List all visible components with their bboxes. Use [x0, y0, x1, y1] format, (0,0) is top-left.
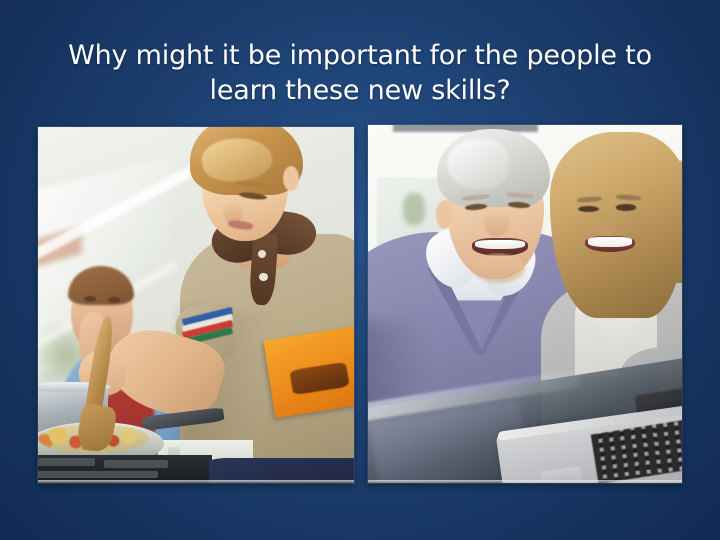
hob-grate-2 — [104, 460, 167, 468]
background-window-foliage — [403, 193, 425, 225]
kitchen-photo-bottom-edge — [38, 480, 354, 483]
slide-title-line-2: learn these new skills? — [44, 73, 676, 108]
background-ceiling-beam — [393, 125, 537, 132]
woman-eye-left — [578, 206, 598, 212]
older-man-chin — [472, 254, 525, 283]
woman-eye-right — [616, 204, 636, 210]
woman-blonde-hair — [550, 132, 682, 318]
older-man-hair-highlight — [447, 139, 510, 189]
kitchen-cooking-photo — [38, 127, 354, 483]
foreground-teen-ear — [283, 166, 299, 191]
hob-grate-1 — [38, 458, 95, 466]
older-man-ear — [436, 200, 453, 229]
woman-teeth — [588, 237, 632, 246]
laptop-photo-bottom-edge — [368, 480, 682, 483]
hob-grate-3 — [38, 471, 158, 479]
slide-title: Why might it be important for the people… — [44, 38, 676, 108]
kitchen-photo-content — [38, 127, 354, 483]
woman-nose — [597, 215, 616, 236]
slide-title-line-1: Why might it be important for the people… — [44, 38, 676, 73]
slide-canvas: Why might it be important for the people… — [0, 0, 720, 540]
laptop-photo-content — [368, 125, 682, 483]
older-man-teeth — [475, 240, 525, 249]
laptop-learning-photo — [368, 125, 682, 483]
